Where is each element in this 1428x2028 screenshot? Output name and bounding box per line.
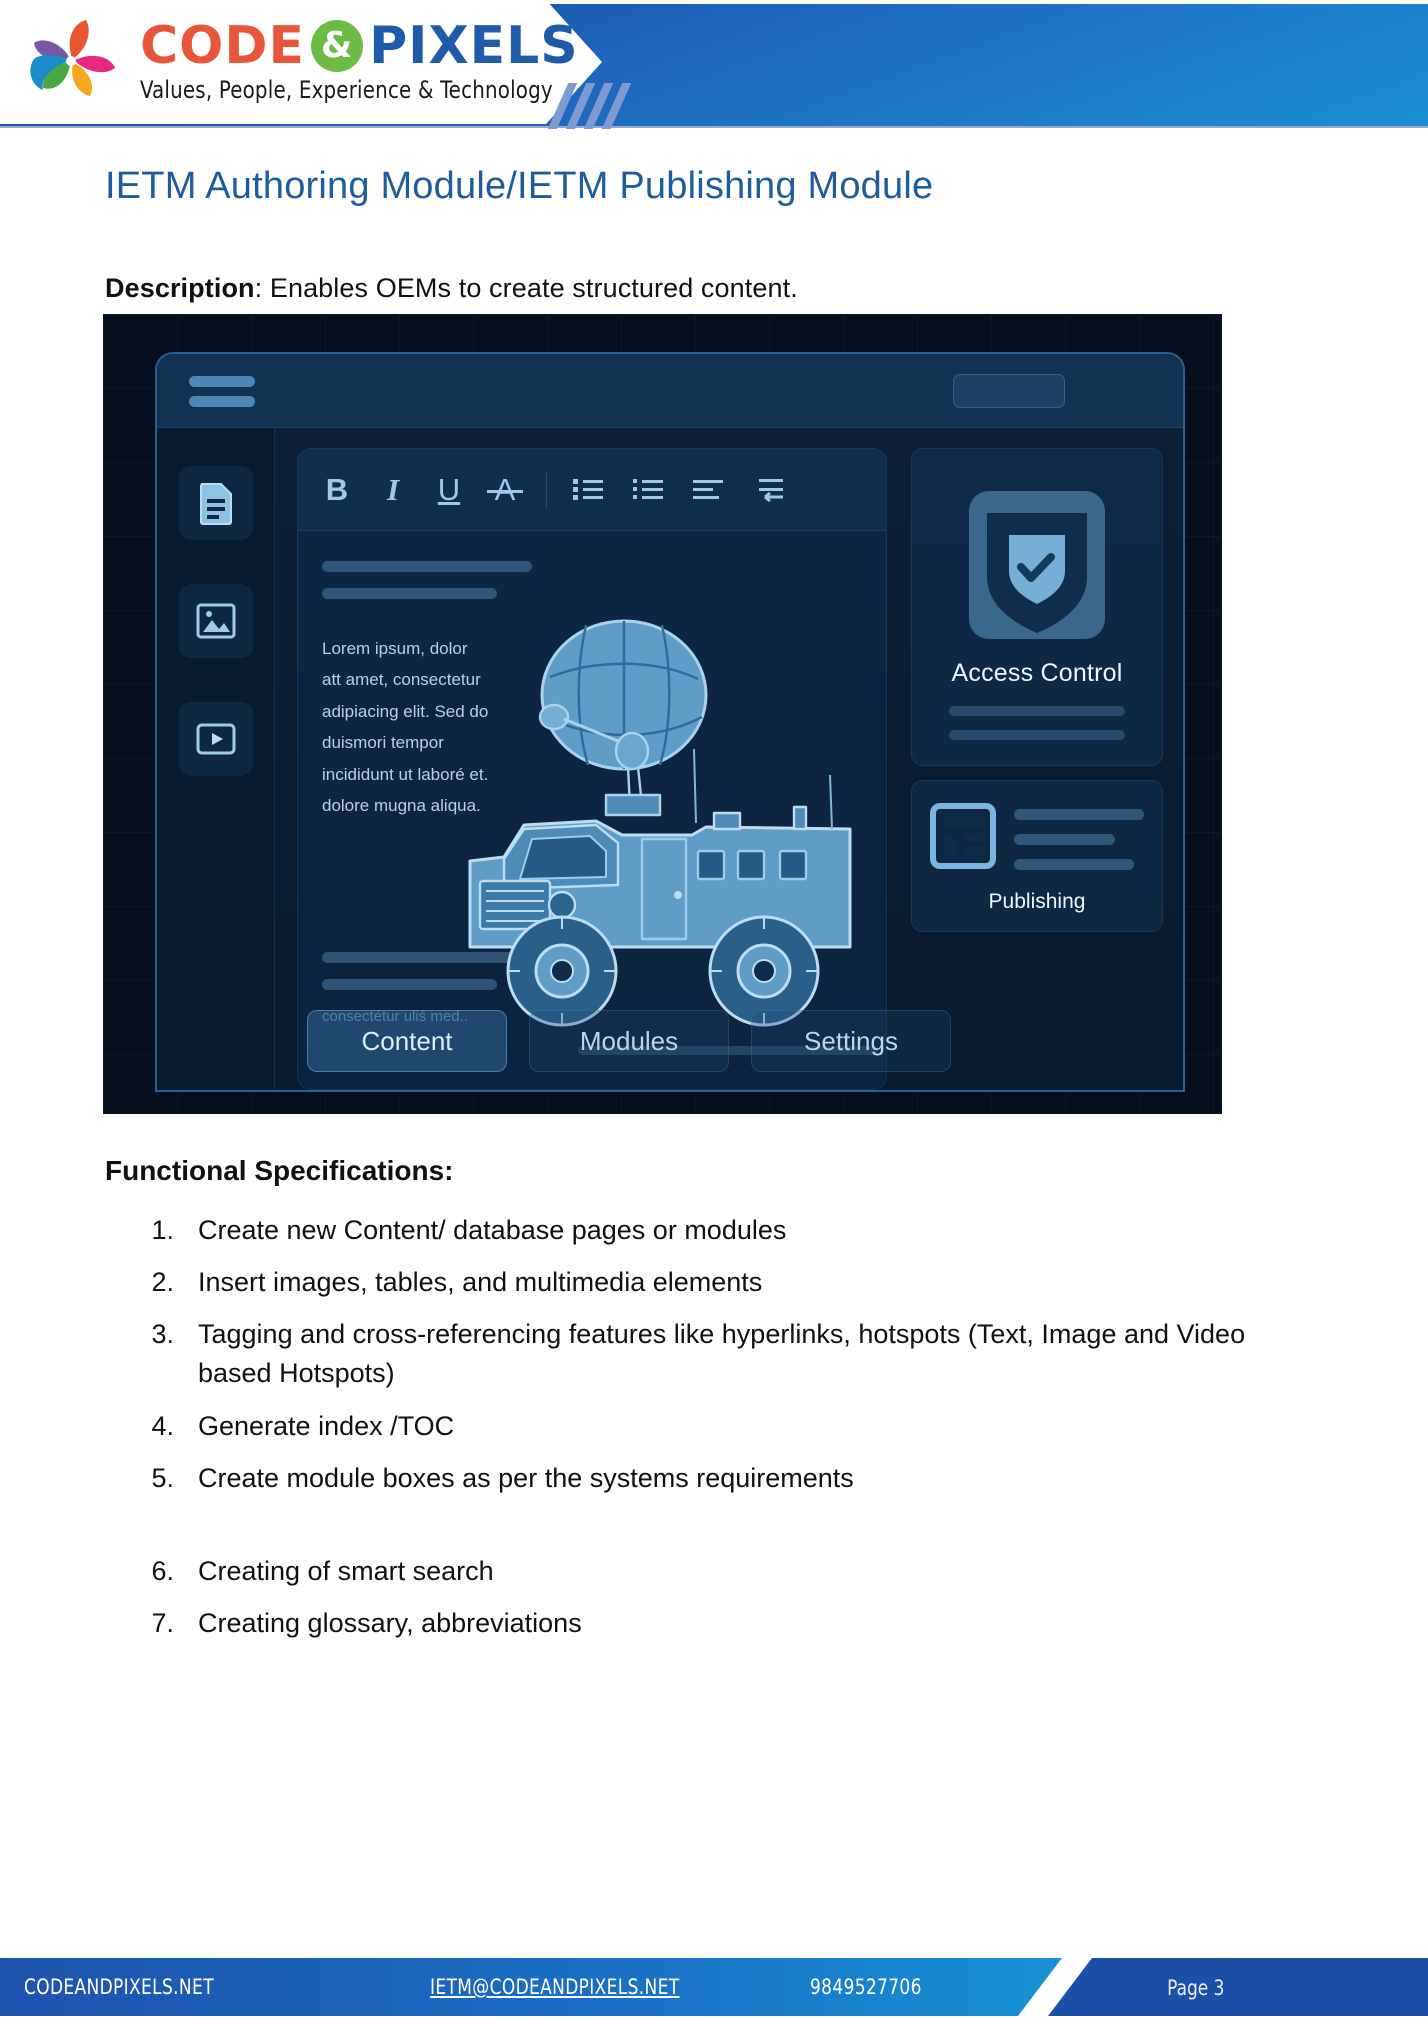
logo-word-pixels: PIXELS [369, 20, 579, 72]
publishing-panel[interactable]: Publishing [911, 780, 1163, 932]
bullet-list-icon[interactable] [573, 477, 603, 503]
paragraph-line: att amet, consectetur [322, 664, 522, 695]
editor-document-area: Lorem ipsum, dolor att amet, consectetur… [298, 531, 886, 1089]
publishing-skeleton-lines [1014, 803, 1144, 884]
layout-template-icon [930, 803, 996, 869]
list-item-text: Create module boxes as per the systems r… [198, 1459, 1290, 1498]
rail-item-video[interactable] [179, 702, 253, 776]
tab-settings[interactable]: Settings [751, 1010, 951, 1072]
mockup-tab-bar: Content Modules Settings [307, 1010, 951, 1072]
logo-text-block: CODE & PIXELS Values, People, Experience… [140, 20, 589, 104]
toolbar-separator [546, 471, 547, 509]
page-footer: CODEANDPIXELS.NET IETM@CODEANDPIXELS.NET… [0, 1945, 1428, 2028]
skeleton-line [322, 979, 497, 990]
list-item: 6. Creating of smart search [140, 1552, 1290, 1591]
paragraph-line: duismori tempor [322, 727, 522, 758]
paragraph-line: incididunt ut laboré et. [322, 759, 522, 790]
specs-heading: Functional Specifications: [105, 1155, 453, 1187]
list-item-number: 7. [140, 1604, 174, 1643]
tab-content[interactable]: Content [307, 1010, 507, 1072]
list-item-number: 6. [140, 1552, 174, 1591]
footer-email-link[interactable]: IETM@CODEANDPIXELS.NET [430, 1975, 679, 1999]
mockup-editor-column: B I U A [275, 428, 905, 1090]
list-item-number: 1. [140, 1211, 174, 1250]
specs-list: 1. Create new Content/ database pages or… [140, 1211, 1290, 1656]
paragraph-line: Lorem ipsum, dolor [322, 633, 522, 664]
paragraph-line: dolore mugna aliqua. [322, 790, 522, 821]
mockup-left-rail [157, 428, 275, 1090]
app-mockup-image: B I U A [103, 314, 1222, 1114]
list-item: 1. Create new Content/ database pages or… [140, 1211, 1290, 1250]
tab-modules[interactable]: Modules [529, 1010, 729, 1072]
logo-word-code: CODE [140, 20, 305, 72]
list-item-text: Generate index /TOC [198, 1407, 1290, 1446]
description-label: Description [105, 273, 255, 303]
logo-ampersand: & [311, 20, 363, 72]
list-item-text: Insert images, tables, and multimedia el… [198, 1263, 1290, 1302]
underline-button[interactable]: U [434, 474, 464, 505]
list-item: 5. Create module boxes as per the system… [140, 1459, 1290, 1498]
page-title: IETM Authoring Module/IETM Publishing Mo… [105, 165, 933, 208]
skeleton-line [322, 561, 532, 572]
list-item-number: 4. [140, 1407, 174, 1446]
editor-paragraph: Lorem ipsum, dolor att amet, consectetur… [322, 633, 522, 822]
access-control-panel[interactable]: Access Control [911, 448, 1163, 766]
logo-tagline: Values, People, Experience & Technology [140, 76, 553, 104]
description-text: : Enables OEMs to create structured cont… [255, 273, 798, 303]
document-icon [196, 481, 236, 525]
panel-skeleton-line [949, 730, 1125, 740]
header-divider [0, 126, 1428, 128]
page-header: CODE & PIXELS Values, People, Experience… [0, 0, 1428, 133]
company-logo: CODE & PIXELS Values, People, Experience… [22, 14, 589, 110]
mockup-topbar [157, 354, 1183, 428]
list-item: 4. Generate index /TOC [140, 1407, 1290, 1446]
rail-item-image[interactable] [179, 584, 253, 658]
image-icon [195, 602, 237, 640]
paragraph-line: adipiacing elit. Sed do [322, 696, 522, 727]
topbar-pill-button[interactable] [953, 374, 1065, 408]
list-item-number: 5. [140, 1459, 174, 1498]
numbered-list-icon[interactable] [633, 477, 663, 503]
panel-skeleton-line [949, 706, 1125, 716]
align-list-icon[interactable] [693, 477, 723, 503]
document-page: CODE & PIXELS Values, People, Experience… [0, 0, 1428, 2028]
list-item-text: Create new Content/ database pages or mo… [198, 1211, 1290, 1250]
list-item-text: Creating glossary, abbreviations [198, 1604, 1290, 1643]
description-paragraph: Description: Enables OEMs to create stru… [105, 273, 798, 304]
strikethrough-button[interactable]: A [490, 474, 520, 505]
list-item: 7. Creating glossary, abbreviations [140, 1604, 1290, 1643]
shield-check-icon [963, 485, 1111, 645]
list-item: 3. Tagging and cross-referencing feature… [140, 1315, 1290, 1393]
rail-item-document[interactable] [179, 466, 253, 540]
bold-button[interactable]: B [322, 474, 352, 505]
publishing-label: Publishing [930, 890, 1144, 914]
mockup-body: B I U A [157, 428, 1183, 1090]
list-item: 2. Insert images, tables, and multimedia… [140, 1263, 1290, 1302]
skeleton-line [322, 952, 527, 963]
footer-page-number: Page 3 [1168, 1976, 1225, 2000]
list-item-text: Tagging and cross-referencing features l… [198, 1315, 1290, 1393]
skeleton-line [322, 588, 497, 599]
editor-card: B I U A [297, 448, 887, 1090]
mockup-right-column: Access Control [905, 428, 1183, 1090]
hamburger-menu-icon[interactable] [189, 376, 255, 407]
footer-website[interactable]: CODEANDPIXELS.NET [24, 1975, 214, 1999]
list-item-number: 3. [140, 1315, 174, 1393]
formatting-toolbar: B I U A [298, 449, 886, 531]
mockup-app-window: B I U A [155, 352, 1185, 1092]
italic-button[interactable]: I [378, 474, 408, 505]
list-item-text: Creating of smart search [198, 1552, 1290, 1591]
video-play-icon [195, 722, 237, 756]
access-control-label: Access Control [952, 659, 1123, 688]
indent-list-icon[interactable] [753, 477, 783, 503]
header-slash-decoration [548, 81, 658, 129]
pinwheel-logo-icon [22, 14, 126, 110]
footer-phone: 9849527706 [810, 1975, 922, 1999]
list-item-number: 2. [140, 1263, 174, 1302]
